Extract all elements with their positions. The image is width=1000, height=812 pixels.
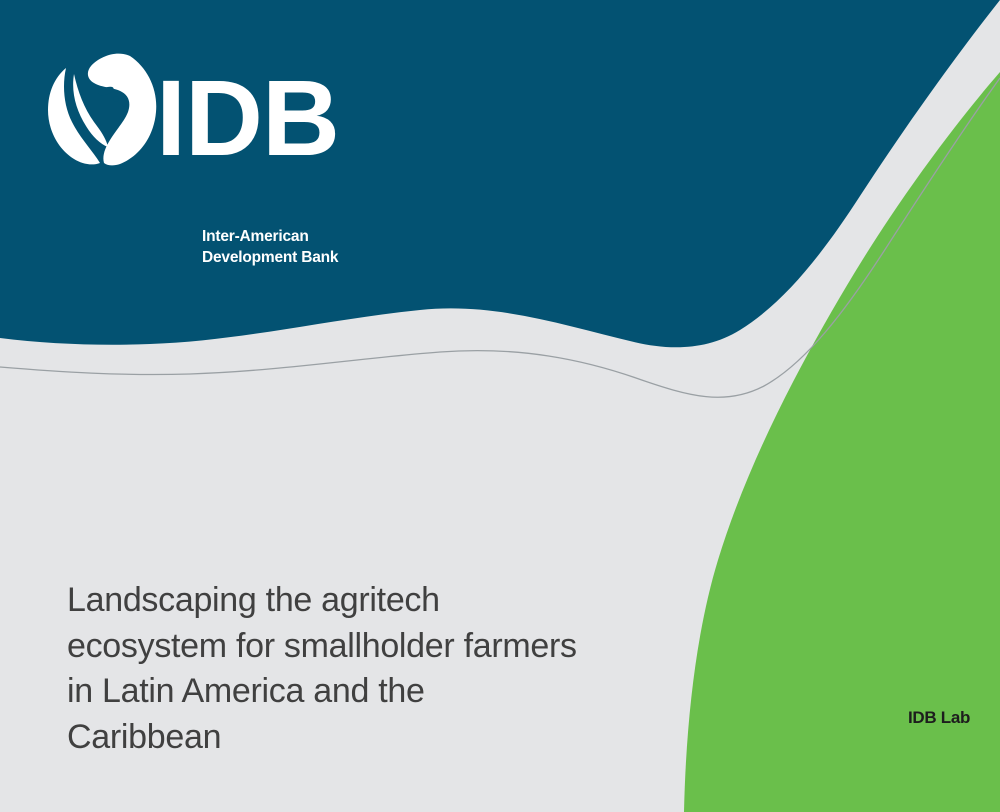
title-line-1: Landscaping the agritech: [67, 581, 440, 619]
idb-subtitle-line-1: Inter-American: [202, 226, 402, 247]
title-line-3: in Latin America and the: [67, 672, 425, 710]
title-line-4: Caribbean: [67, 718, 221, 756]
idb-logo: IDB Inter-American Development Bank: [44, 52, 384, 232]
idb-wordmark: IDB: [156, 64, 339, 172]
report-cover-page: IDB Inter-American Development Bank Land…: [0, 0, 1000, 812]
title-line-2: ecosystem for smallholder farmers: [67, 627, 577, 665]
page-title: Landscaping the agritech ecosystem for s…: [67, 578, 667, 761]
idb-lab-label: IDB Lab: [908, 708, 970, 728]
idb-subtitle-line-2: Development Bank: [202, 247, 402, 268]
idb-subtitle: Inter-American Development Bank: [202, 226, 402, 269]
idb-leaf-globe-icon: [44, 52, 162, 170]
